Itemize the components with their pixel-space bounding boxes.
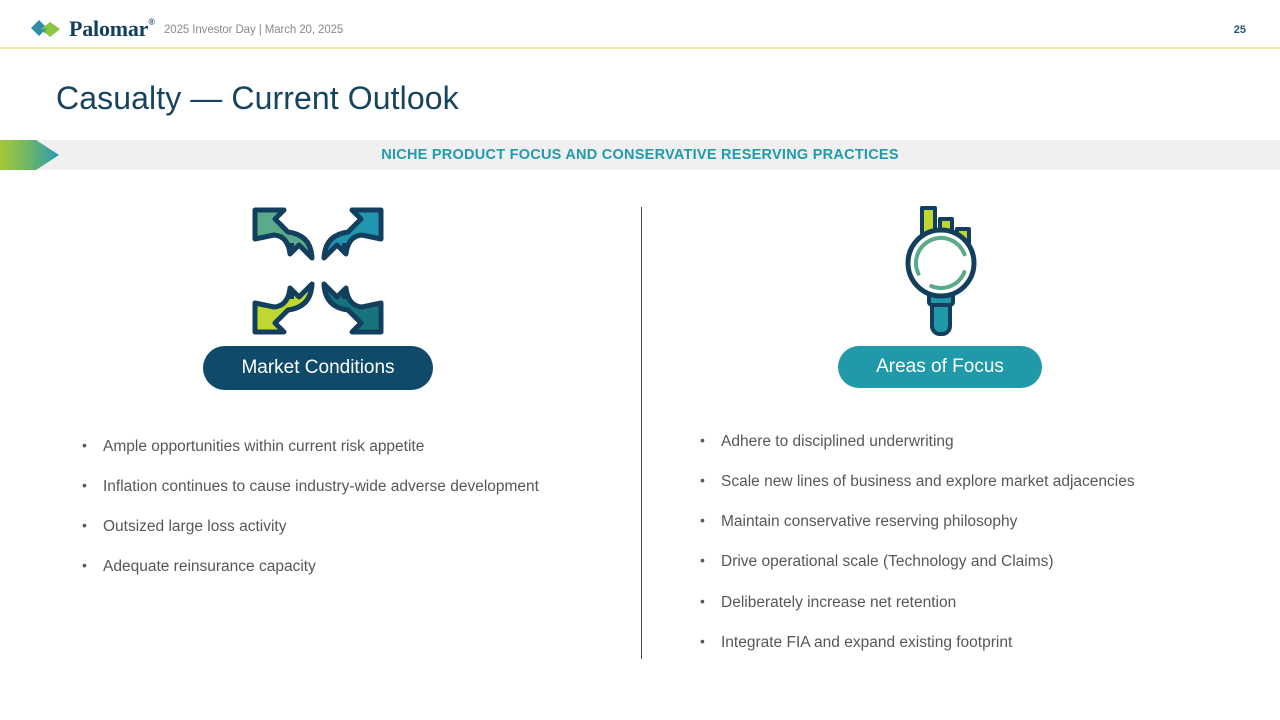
market-conditions-icon-area	[56, 196, 626, 346]
list-item: Adequate reinsurance capacity	[80, 557, 550, 577]
list-item: Integrate FIA and expand existing footpr…	[698, 633, 1143, 653]
column-divider	[641, 207, 642, 659]
header-divider-rule	[0, 47, 1280, 49]
page-title: Casualty — Current Outlook	[56, 80, 459, 117]
palomar-logo: Palomar®	[31, 17, 155, 41]
list-item: Scale new lines of business and explore …	[698, 472, 1143, 492]
logo-wordmark: Palomar®	[69, 18, 155, 40]
header-subtitle: 2025 Investor Day | March 20, 2025	[164, 24, 343, 36]
areas-of-focus-pill: Areas of Focus	[838, 346, 1042, 388]
logo-wordmark-text: Palomar	[69, 16, 148, 41]
areas-of-focus-column: Areas of Focus Adhere to disciplined und…	[660, 196, 1250, 673]
list-item: Adhere to disciplined underwriting	[698, 432, 1143, 452]
list-item: Maintain conservative reserving philosop…	[698, 512, 1143, 532]
areas-of-focus-pill-row: Areas of Focus	[660, 346, 1250, 388]
market-conditions-pill: Market Conditions	[203, 346, 432, 390]
list-item: Deliberately increase net retention	[698, 593, 1143, 613]
section-banner: NICHE PRODUCT FOCUS AND CONSERVATIVE RES…	[0, 140, 1280, 170]
areas-of-focus-bullet-list: Adhere to disciplined underwriting Scale…	[698, 432, 1143, 653]
registered-mark: ®	[148, 17, 155, 27]
page-number: 25	[1234, 24, 1246, 36]
list-item: Inflation continues to cause industry-wi…	[80, 477, 550, 497]
palomar-diamond-logo-icon	[31, 19, 64, 39]
four-quadrant-arrows-icon	[252, 206, 384, 336]
magnifying-glass-bar-chart-icon	[897, 201, 983, 341]
market-conditions-column: Market Conditions Ample opportunities wi…	[56, 196, 626, 598]
list-item: Outsized large loss activity	[80, 517, 550, 537]
market-conditions-bullet-list: Ample opportunities within current risk …	[80, 437, 550, 578]
areas-of-focus-icon-area	[660, 196, 1250, 346]
banner-label: NICHE PRODUCT FOCUS AND CONSERVATIVE RES…	[0, 140, 1280, 170]
list-item: Drive operational scale (Technology and …	[698, 552, 1143, 572]
list-item: Ample opportunities within current risk …	[80, 437, 550, 457]
market-conditions-pill-row: Market Conditions	[56, 346, 626, 390]
slide-header: Palomar® 2025 Investor Day | March 20, 2…	[0, 0, 1280, 49]
